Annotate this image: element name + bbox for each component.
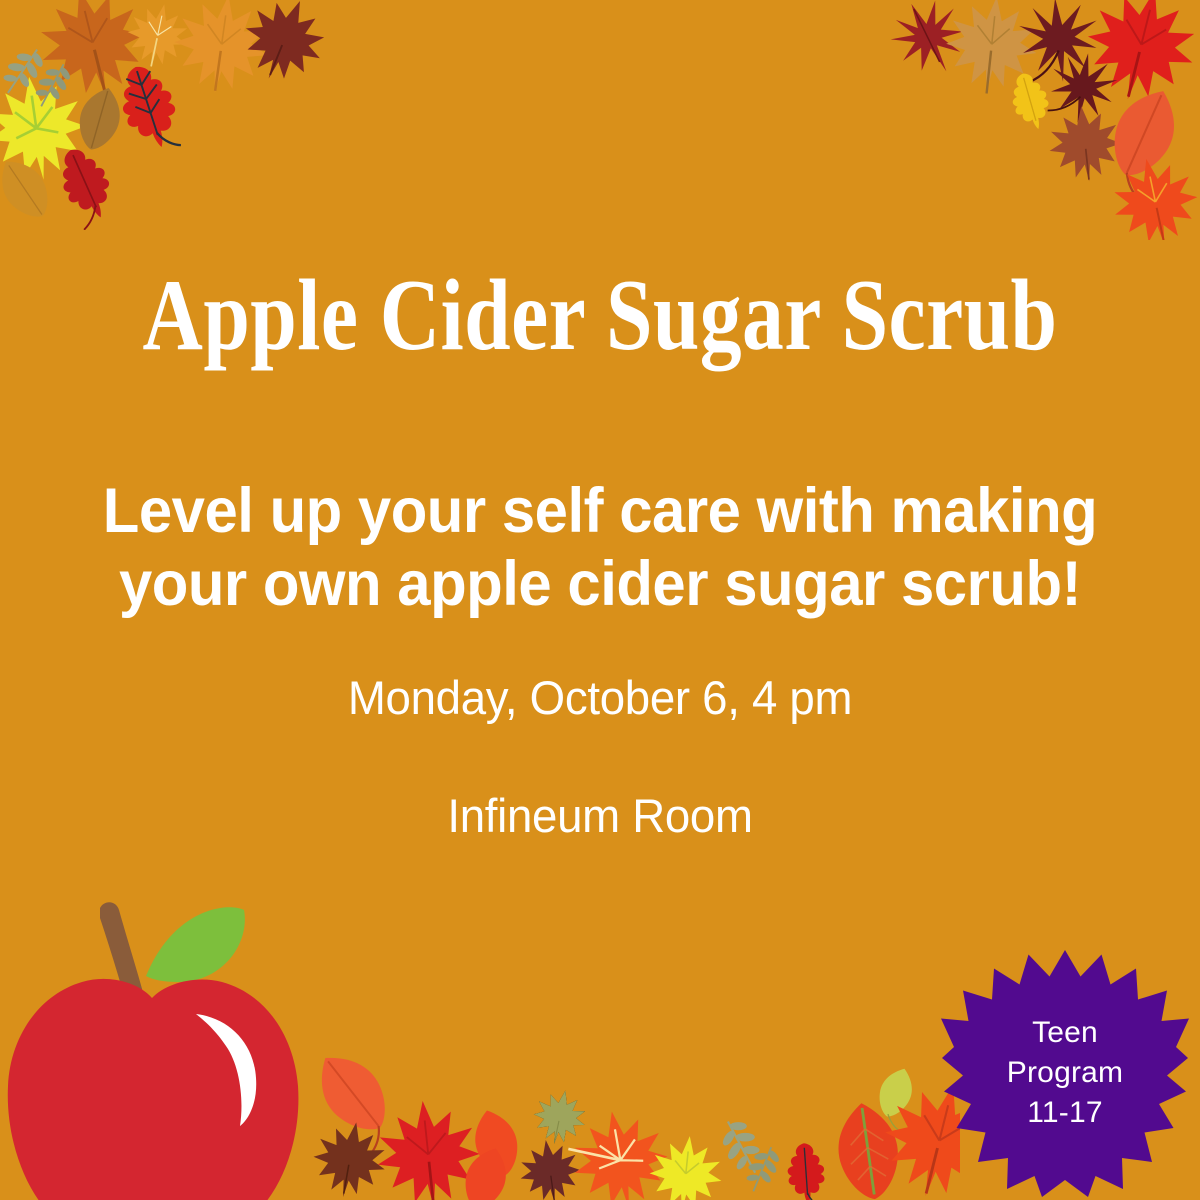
autumn-leaves-top-left [0,0,330,230]
apple-illustration [0,878,312,1200]
apple-leaf [146,907,245,982]
event-details: Monday, October 6, 4 pm Infineum Room [0,672,1200,841]
poster-description: Level up your self care with making your… [68,475,1132,621]
badge-line-2: Program [1007,1053,1123,1093]
event-date-time: Monday, October 6, 4 pm [18,672,1182,724]
badge-text-block: Teen Program 11-17 [940,948,1190,1198]
poster-canvas: Apple Cider Sugar Scrub Level up your se… [0,0,1200,1200]
badge-line-3: 11-17 [1027,1093,1103,1133]
event-location: Infineum Room [18,790,1182,842]
autumn-leaves-bottom-border [300,1030,960,1200]
badge-line-1: Teen [1032,1013,1098,1053]
autumn-leaves-top-right [880,0,1200,240]
poster-title: Apple Cider Sugar Scrub [108,264,1092,368]
teen-program-badge: Teen Program 11-17 [940,948,1190,1198]
